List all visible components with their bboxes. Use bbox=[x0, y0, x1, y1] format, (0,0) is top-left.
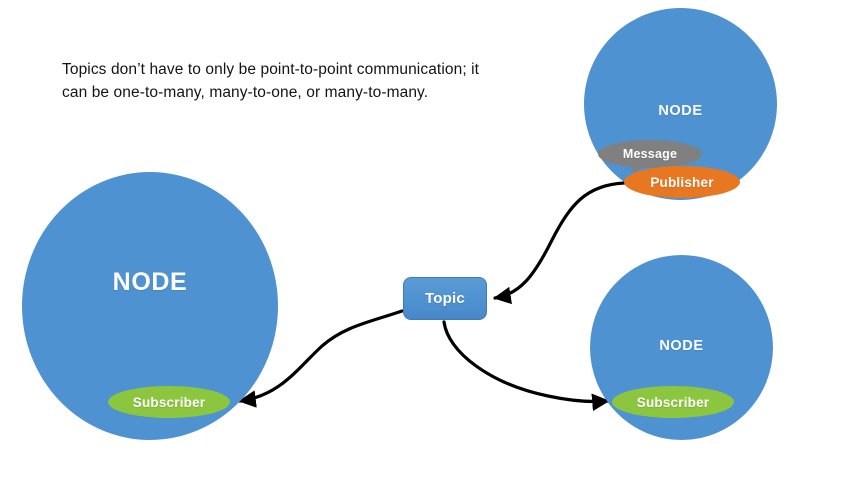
slide-canvas: Topics don’t have to only be point-to-po… bbox=[0, 0, 854, 480]
message-bubble[interactable]: Message bbox=[598, 140, 702, 168]
node-publisher-label: NODE bbox=[584, 103, 777, 119]
node-subscriber-right-label: NODE bbox=[590, 338, 773, 354]
node-left-label: NODE bbox=[22, 268, 278, 297]
connector-publisher-to-topic bbox=[495, 183, 624, 298]
topic-box[interactable]: Topic bbox=[403, 277, 487, 320]
slide-caption: Topics don’t have to only be point-to-po… bbox=[62, 58, 482, 105]
subscriber-pill-left[interactable]: Subscriber bbox=[108, 386, 230, 418]
connector-topic-to-subscriber-right bbox=[444, 322, 608, 401]
subscriber-pill-right[interactable]: Subscriber bbox=[612, 386, 734, 418]
publisher-pill[interactable]: Publisher bbox=[624, 166, 740, 198]
